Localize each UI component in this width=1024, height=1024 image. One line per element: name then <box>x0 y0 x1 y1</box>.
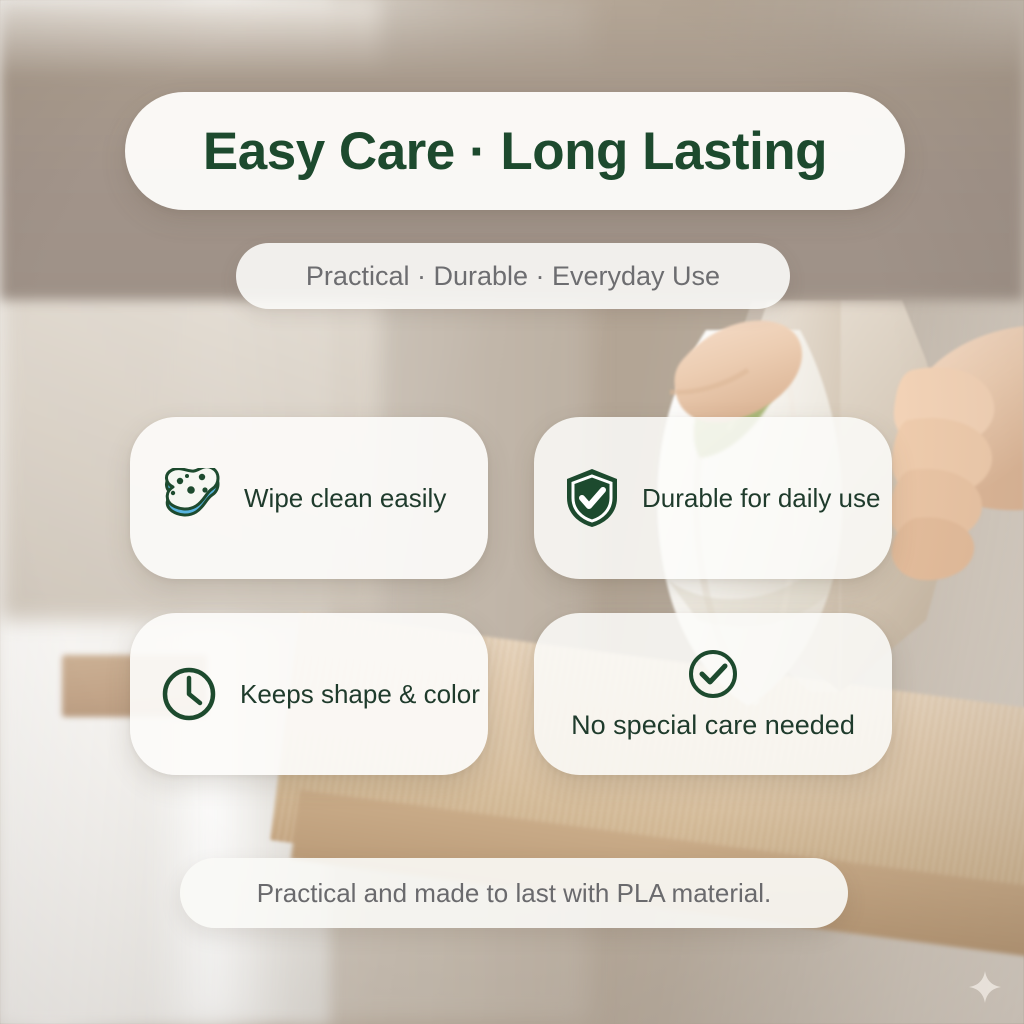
sponge-icon <box>160 468 222 528</box>
footer-pill: Practical and made to last with PLA mate… <box>180 858 848 928</box>
title-pill: Easy Care · Long Lasting <box>125 92 905 210</box>
feature-card-keeps-shape[interactable]: Keeps shape & color <box>130 613 488 775</box>
page-title: Easy Care · Long Lasting <box>203 121 827 182</box>
shield-check-icon <box>564 467 620 529</box>
feature-card-wipe-clean[interactable]: Wipe clean easily <box>130 417 488 579</box>
subtitle-pill: Practical · Durable · Everyday Use <box>236 243 790 309</box>
sparkle-icon <box>968 970 1002 1004</box>
feature-label: No special care needed <box>571 710 855 741</box>
page-subtitle: Practical · Durable · Everyday Use <box>306 261 720 292</box>
footer-text: Practical and made to last with PLA mate… <box>257 878 771 909</box>
feature-card-no-special-care[interactable]: No special care needed <box>534 613 892 775</box>
check-circle-icon <box>687 648 739 700</box>
feature-label: Durable for daily use <box>642 483 880 514</box>
infographic-canvas: Easy Care · Long Lasting Practical · Dur… <box>0 0 1024 1024</box>
feature-label: Keeps shape & color <box>240 679 480 710</box>
feature-card-durable[interactable]: Durable for daily use <box>534 417 892 579</box>
feature-label: Wipe clean easily <box>244 483 446 514</box>
clock-icon <box>160 665 218 723</box>
